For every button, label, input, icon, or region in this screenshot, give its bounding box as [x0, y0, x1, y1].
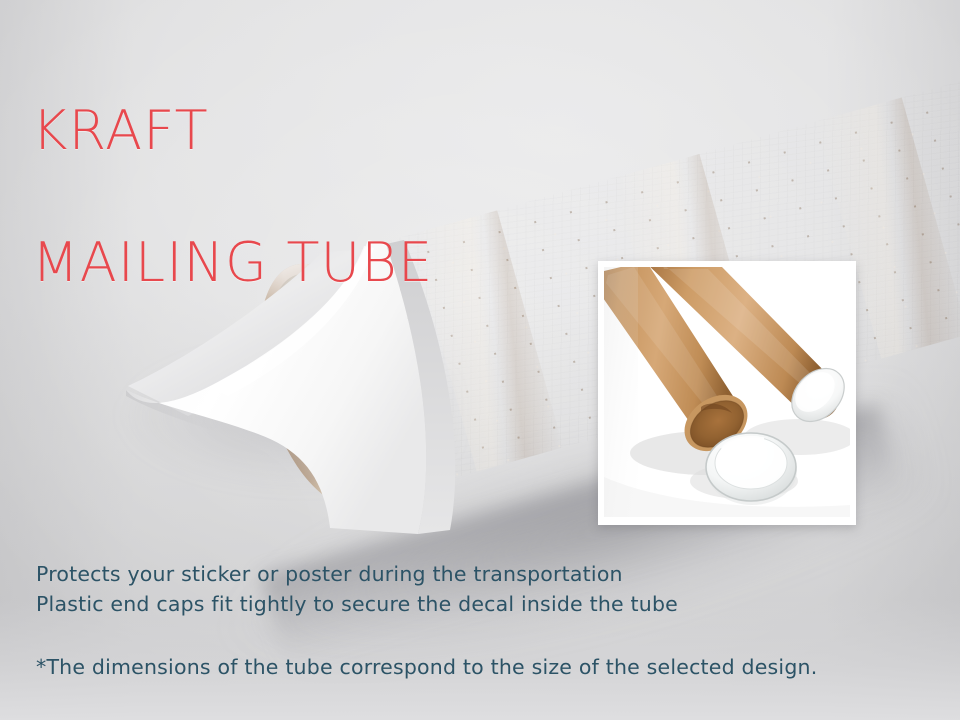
page-title: KRAFT MAILING TUBE: [32, 32, 433, 361]
inset-photo-content: [604, 267, 850, 517]
feature-item: Protects your sticker or poster during t…: [36, 559, 678, 589]
poster-canvas: KRAFT MAILING TUBE Protects your sticker…: [0, 0, 960, 720]
title-line-2: MAILING TUBE: [32, 230, 433, 296]
footnote-text: *The dimensions of the tube correspond t…: [36, 655, 817, 679]
inset-product-photo: [598, 261, 856, 525]
title-line-1: KRAFT: [32, 98, 433, 164]
feature-list: Protects your sticker or poster during t…: [36, 559, 678, 619]
feature-item: Plastic end caps fit tightly to secure t…: [36, 589, 678, 619]
